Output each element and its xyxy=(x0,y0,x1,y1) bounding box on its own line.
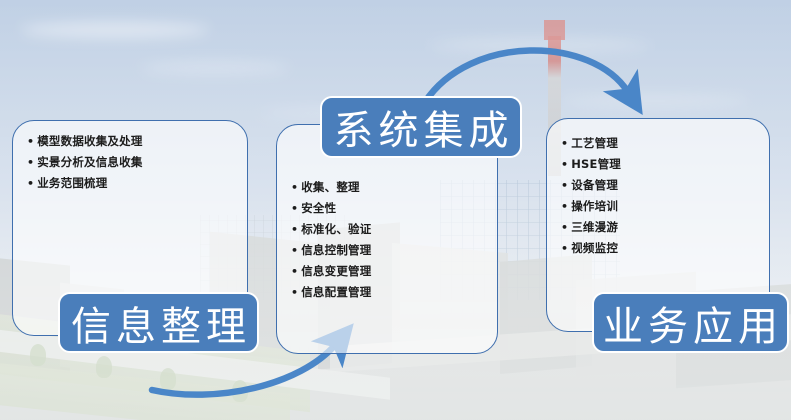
list-item: 工艺管理 xyxy=(561,133,755,154)
stage-tag-system-integration[interactable]: 系统集成 xyxy=(320,96,522,158)
stage-tag-information-organization[interactable]: 信息整理 xyxy=(58,292,259,353)
list-item: 三维漫游 xyxy=(561,217,755,238)
list-item: 实景分析及信息收集 xyxy=(27,152,233,173)
list-item: 视频监控 xyxy=(561,238,755,259)
list-item: 信息控制管理 xyxy=(291,240,483,261)
bullet-list-business-application: 工艺管理 HSE管理 设备管理 操作培训 三维漫游 视频监控 xyxy=(547,133,769,259)
stage-panel-system-integration[interactable]: 收集、整理 安全性 标准化、验证 信息控制管理 信息变更管理 信息配置管理 xyxy=(276,124,498,354)
list-item: 设备管理 xyxy=(561,175,755,196)
bullet-list-system-integration: 收集、整理 安全性 标准化、验证 信息控制管理 信息变更管理 信息配置管理 xyxy=(277,177,497,303)
bullet-list-information-organization: 模型数据收集及处理 实景分析及信息收集 业务范围梳理 xyxy=(13,131,247,194)
list-item: 信息变更管理 xyxy=(291,261,483,282)
list-item: 业务范围梳理 xyxy=(27,173,233,194)
list-item: HSE管理 xyxy=(561,154,755,175)
list-item: 安全性 xyxy=(291,198,483,219)
list-item: 信息配置管理 xyxy=(291,282,483,303)
stage-tag-business-application[interactable]: 业务应用 xyxy=(592,292,789,353)
list-item: 模型数据收集及处理 xyxy=(27,131,233,152)
list-item: 收集、整理 xyxy=(291,177,483,198)
arrow-middle-to-right xyxy=(425,50,628,102)
list-item: 操作培训 xyxy=(561,196,755,217)
slide-canvas: 模型数据收集及处理 实景分析及信息收集 业务范围梳理 收集、整理 安全性 标准化… xyxy=(0,0,791,420)
list-item: 标准化、验证 xyxy=(291,219,483,240)
